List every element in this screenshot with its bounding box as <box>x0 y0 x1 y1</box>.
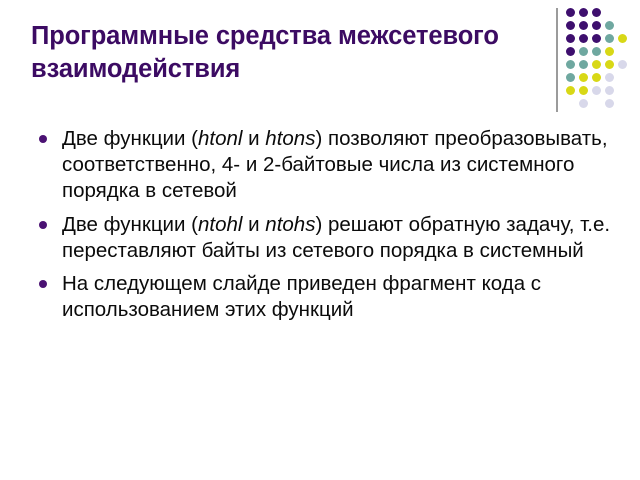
ornament-dot <box>592 60 601 69</box>
bullet-dot-icon <box>39 280 47 288</box>
ornament-dot <box>579 86 588 95</box>
text-run: и <box>242 127 265 150</box>
ornament-dot <box>605 60 614 69</box>
ornament-dot <box>592 73 601 82</box>
ornament-dot <box>579 8 588 17</box>
ornament-dot <box>605 99 614 108</box>
ornament-dot <box>605 34 614 43</box>
ornament-dot <box>579 99 588 108</box>
text-run: Две функции ( <box>62 213 198 236</box>
ornament-dot <box>592 47 601 56</box>
page-title: Программные средства межсетевого взаимод… <box>31 20 536 86</box>
list-item-text: Две функции (ntohl и ntohs) решают обрат… <box>62 212 620 264</box>
text-run: и <box>242 213 265 236</box>
ornament-dot <box>566 86 575 95</box>
ornament-dot <box>592 8 601 17</box>
ornament-dot <box>579 47 588 56</box>
bullet-dot-icon <box>39 135 47 143</box>
list-item-text: На следующем слайде приведен фрагмент ко… <box>62 271 620 323</box>
bullet-list: Две функции (htonl и htons) позволяют пр… <box>30 126 620 323</box>
ornament-dot <box>579 21 588 30</box>
text-run: Две функции ( <box>62 127 198 150</box>
dot-grid-icon <box>566 8 640 112</box>
function-name-emphasis: htonl <box>198 127 242 150</box>
ornament-dot <box>618 60 627 69</box>
ornament-dot <box>566 21 575 30</box>
ornament-dot <box>566 47 575 56</box>
ornament-dot <box>605 73 614 82</box>
slide-title: Программные средства межсетевого взаимод… <box>31 20 536 86</box>
ornament-dot <box>592 21 601 30</box>
ornament-dot <box>592 86 601 95</box>
ornament-dot <box>605 21 614 30</box>
vertical-divider-line <box>556 8 558 112</box>
ornament-dot <box>566 73 575 82</box>
ornament-dot <box>579 60 588 69</box>
text-run: На следующем слайде приведен фрагмент ко… <box>62 272 541 321</box>
list-item: На следующем слайде приведен фрагмент ко… <box>30 271 620 323</box>
ornament-dot <box>566 8 575 17</box>
list-item-text: Две функции (htonl и htons) позволяют пр… <box>62 126 620 205</box>
slide-canvas: Программные средства межсетевого взаимод… <box>0 0 640 480</box>
ornament-dot <box>566 34 575 43</box>
ornament-dot <box>605 47 614 56</box>
ornament-dot <box>566 60 575 69</box>
list-item: Две функции (ntohl и ntohs) решают обрат… <box>30 212 620 264</box>
bullet-dot-icon <box>39 221 47 229</box>
ornament-dot <box>605 86 614 95</box>
list-item: Две функции (htonl и htons) позволяют пр… <box>30 126 620 205</box>
function-name-emphasis: ntohs <box>265 213 315 236</box>
ornament-dot <box>579 34 588 43</box>
ornament-dot <box>618 34 627 43</box>
function-name-emphasis: ntohl <box>198 213 242 236</box>
corner-ornament <box>548 0 640 120</box>
ornament-dot <box>579 73 588 82</box>
function-name-emphasis: htons <box>265 127 315 150</box>
ornament-dot <box>592 34 601 43</box>
